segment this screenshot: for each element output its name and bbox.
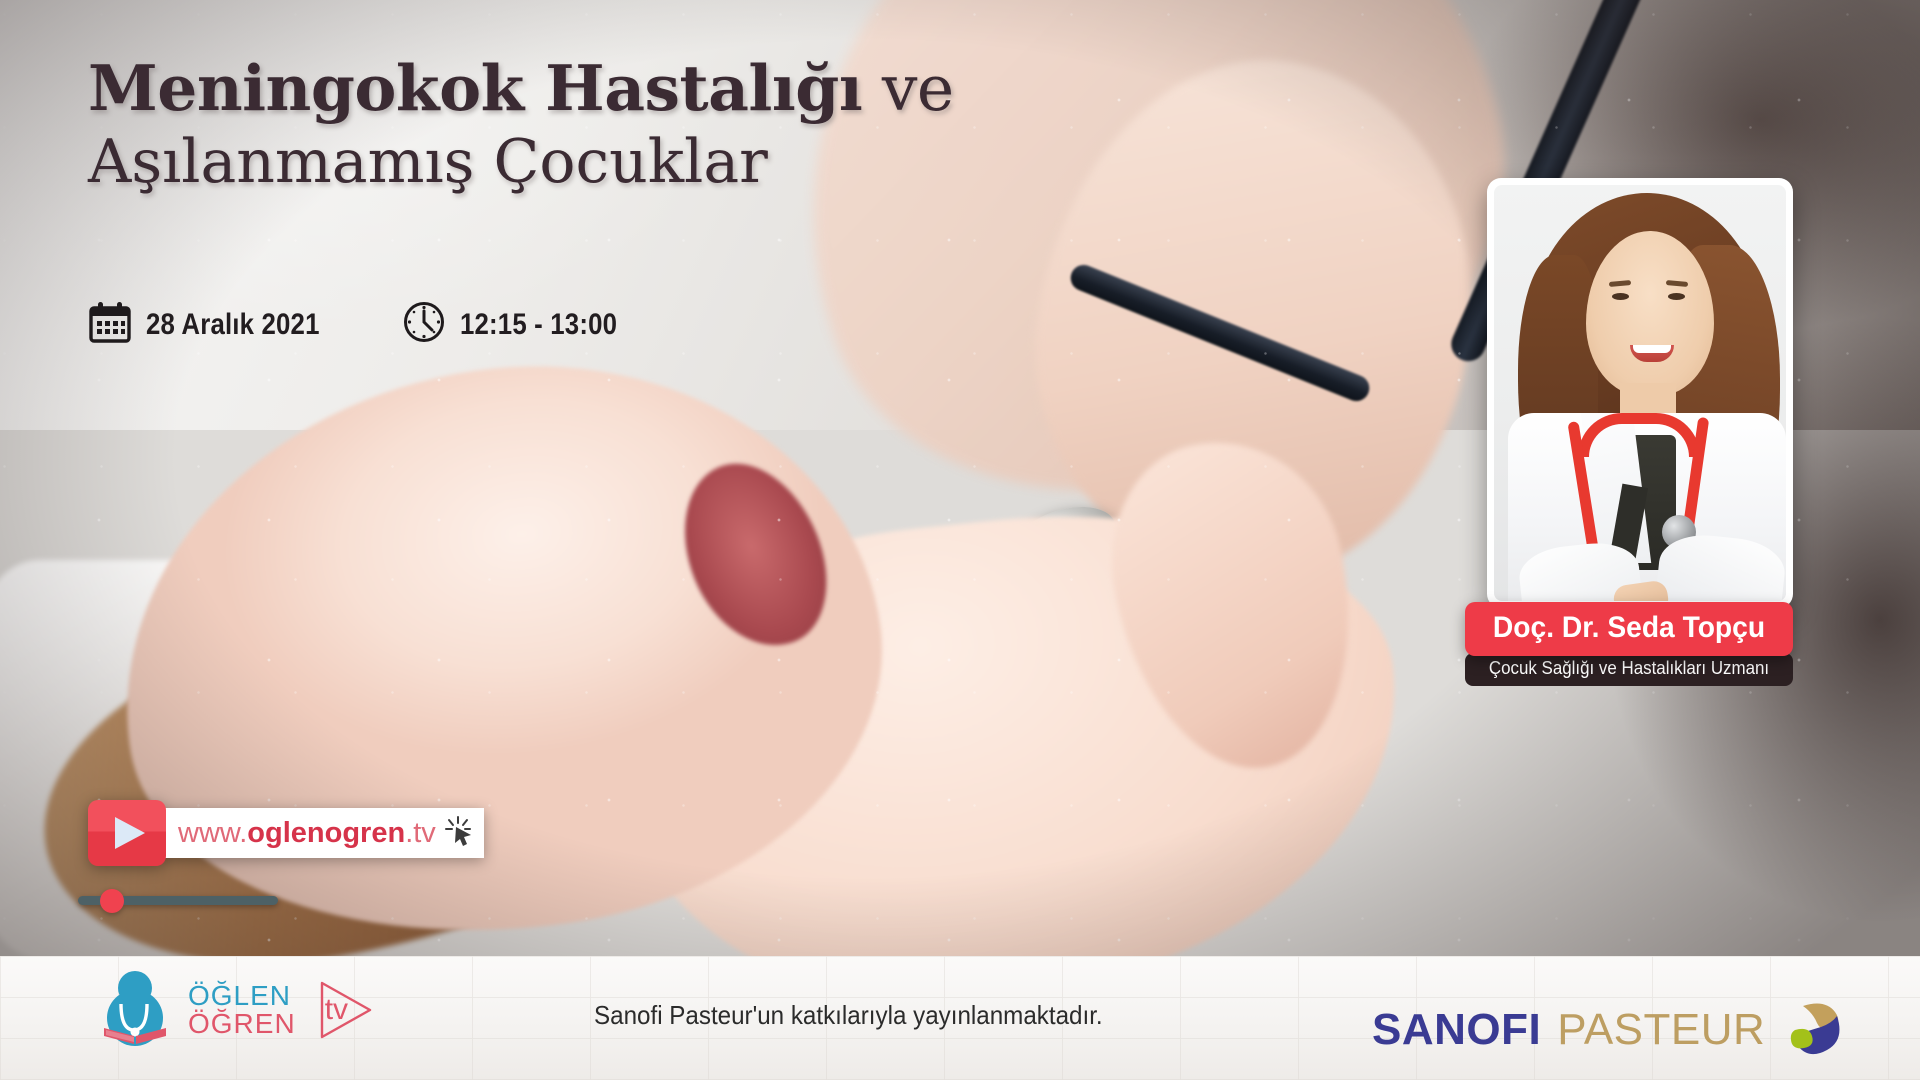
url-prefix: www. [178, 817, 247, 849]
sponsor-text: Sanofi Pasteur'un katkılarıyla yayınlanm… [594, 1000, 1103, 1031]
sanofi-swirl-icon [1781, 996, 1849, 1063]
event-time: 12:15 - 13:00 [460, 308, 617, 342]
video-seek-bar[interactable] [78, 896, 278, 905]
clock-icon [402, 300, 446, 349]
title-bold-part: Meningokok Hastalığı [88, 51, 862, 125]
click-cursor-icon [444, 815, 474, 852]
website-url-badge[interactable]: www.oglenogren.tv [88, 800, 484, 866]
calendar-icon [88, 300, 132, 349]
title-line-2: Aşılanmamış Çocuklar [88, 129, 1208, 196]
sanofi-pasteur-logo: SANOFI PASTEUR [1372, 996, 1849, 1063]
speaker-card: Doç. Dr. Seda Topçu Çocuk Sağlığı ve Has… [1487, 178, 1793, 686]
play-icon[interactable] [88, 800, 166, 866]
sanofi-word: SANOFI [1372, 1005, 1541, 1055]
promo-banner: Meningokok Hastalığı ve Aşılanmamış Çocu… [0, 0, 1920, 1080]
speaker-name-banner: Doç. Dr. Seda Topçu [1465, 602, 1793, 656]
title-line-1: Meningokok Hastalığı ve [88, 56, 1208, 121]
speaker-name: Doç. Dr. Seda Topçu [1488, 611, 1770, 645]
pasteur-word: PASTEUR [1557, 1005, 1765, 1055]
brand-word-top: ÖĞLEN [188, 982, 296, 1010]
speaker-specialty: Çocuk Sağlığı ve Hastalıkları Uzmanı [1484, 658, 1774, 679]
speaker-specialty-banner: Çocuk Sağlığı ve Hastalıkları Uzmanı [1465, 653, 1793, 686]
event-date: 28 Aralık 2021 [146, 308, 320, 342]
brand-word-bottom: ÖĞREN [188, 1010, 296, 1038]
tv-play-icon: tv [314, 977, 376, 1043]
oglen-ogren-tv-logo[interactable]: ÖĞLEN ÖĞREN tv [96, 966, 376, 1053]
event-meta: 28 Aralık 2021 12:15 - 13:00 [88, 300, 643, 349]
doctor-portrait-image [1494, 185, 1786, 601]
url-text: www.oglenogren.tv [178, 817, 436, 850]
brand-wordmark: ÖĞLEN ÖĞREN [188, 982, 296, 1038]
seek-handle[interactable] [100, 889, 124, 913]
url-tld: .tv [405, 817, 436, 849]
title-light-part: ve [882, 52, 954, 125]
tv-label: tv [325, 993, 348, 1027]
url-bar[interactable]: www.oglenogren.tv [152, 808, 484, 858]
avatar [1487, 178, 1793, 608]
url-name: oglenogren [247, 817, 405, 849]
doctor-book-logo-icon [96, 966, 174, 1053]
page-title: Meningokok Hastalığı ve Aşılanmamış Çocu… [88, 56, 1208, 196]
